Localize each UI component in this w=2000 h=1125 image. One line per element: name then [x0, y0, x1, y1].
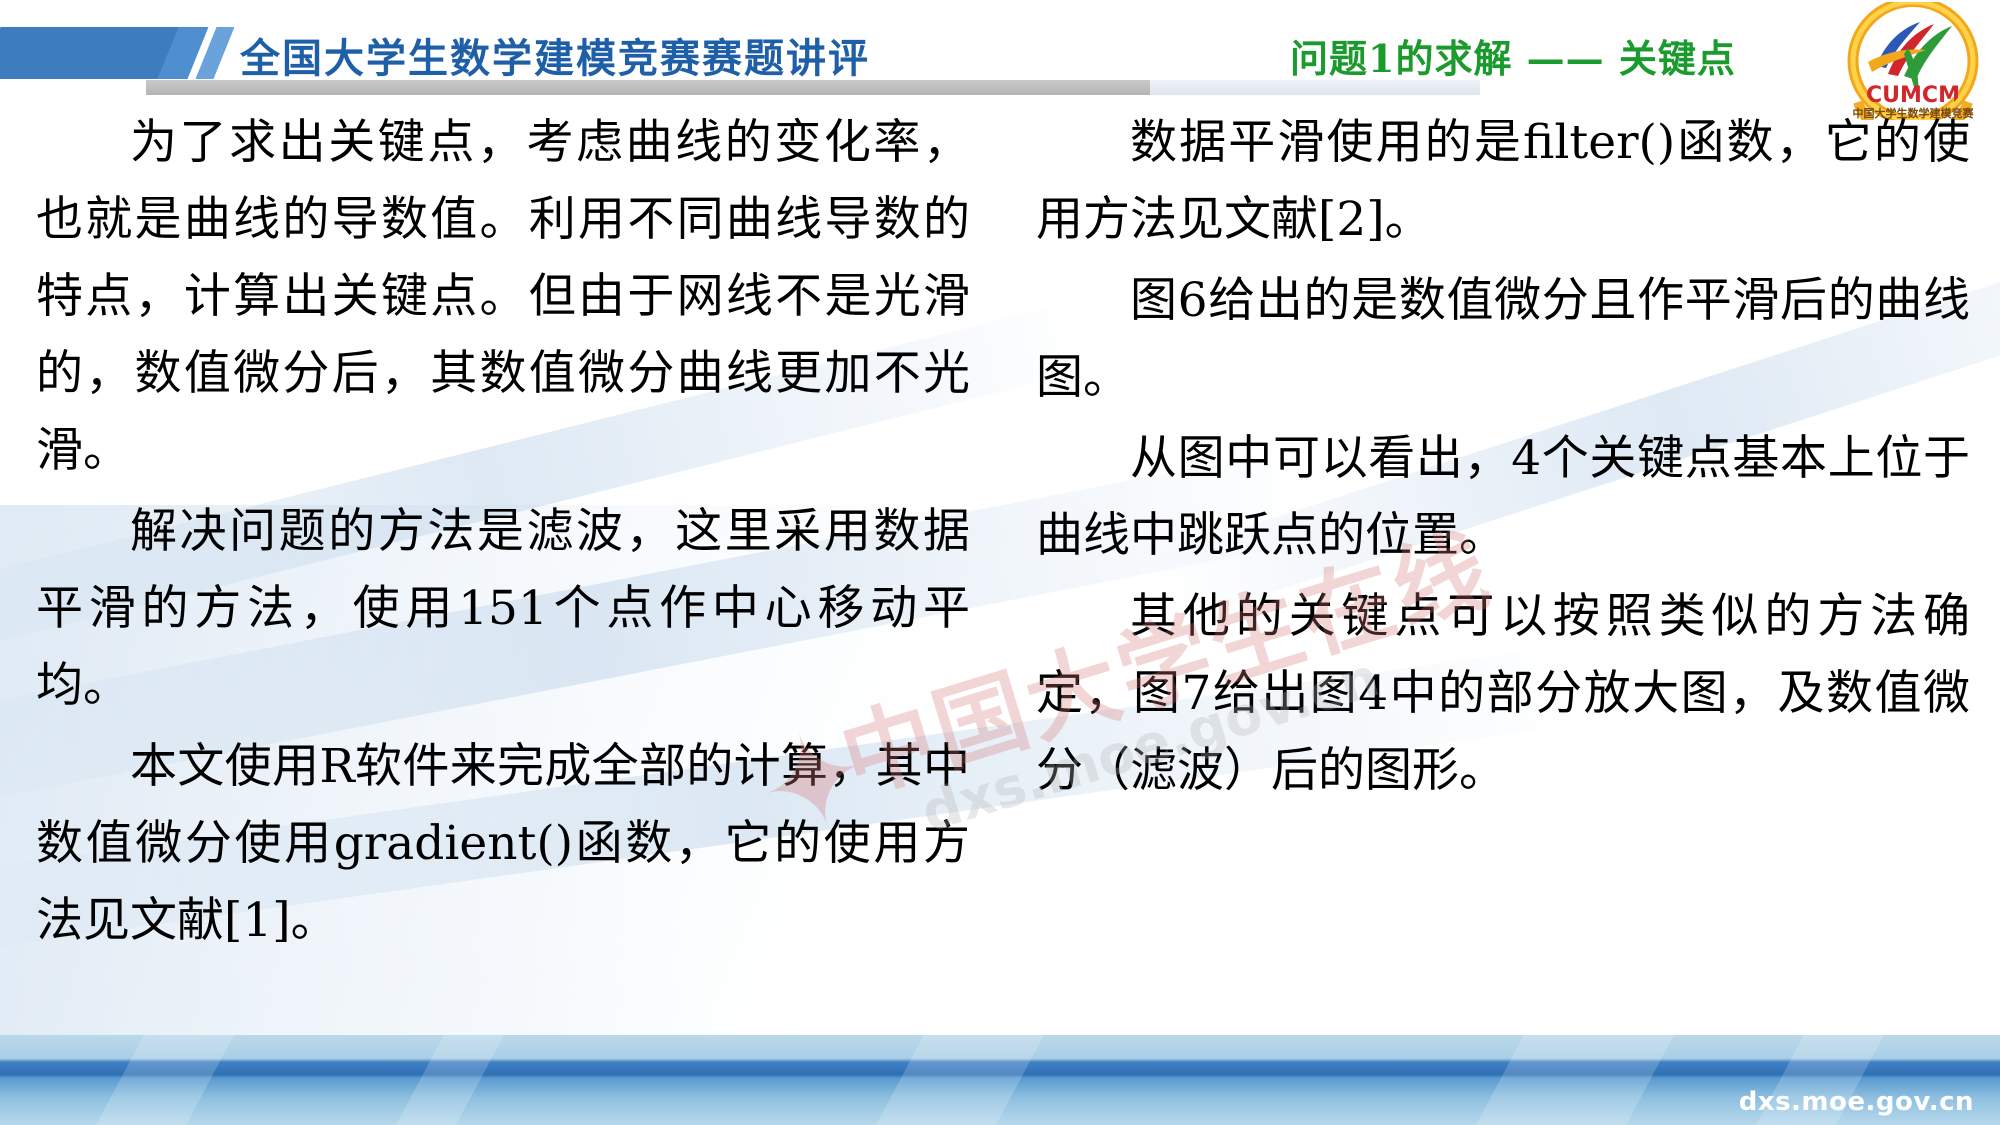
footer-site-url: dxs.moe.gov.cn — [1739, 1087, 1974, 1117]
paragraph: 解决问题的方法是滤波，这里采用数据平滑的方法，使用151个点作中心移动平均。 — [36, 493, 970, 724]
footer-streak-3 — [865, 1035, 1054, 1125]
paragraph: 从图中可以看出，4个关键点基本上位于曲线中跳跃点的位置。 — [1036, 420, 1970, 574]
footer-streak-2 — [385, 1035, 514, 1125]
slide-footer: dxs.moe.gov.cn — [0, 1035, 2000, 1125]
slide-body: 为了求出关键点，考虑曲线的变化率，也就是曲线的导数值。利用不同曲线导数的特点，计… — [0, 104, 2000, 1034]
slide: 全国大学生数学建模竞赛赛题讲评 问题1的求解 —— 关键点 — [0, 0, 2000, 1125]
slide-section-title: 问题1的求解 —— 关键点 — [1290, 28, 1736, 83]
paragraph: 图6给出的是数值微分且作平滑后的曲线图。 — [1036, 262, 1970, 416]
right-text-column: 数据平滑使用的是filter()函数，它的使用方法见文献[2]。 图6给出的是数… — [1000, 104, 2000, 1034]
footer-streak-4 — [1465, 1035, 1684, 1125]
header-blue-bar — [0, 27, 181, 79]
paragraph: 数据平滑使用的是filter()函数，它的使用方法见文献[2]。 — [1036, 104, 1970, 258]
presentation-title: 全国大学生数学建模竞赛赛题讲评 — [240, 26, 870, 84]
cumcm-logo: CUMCM 中国大学生数学建模竞赛 — [1838, 2, 1988, 120]
footer-streak-1 — [85, 1035, 244, 1125]
slide-header: 全国大学生数学建模竞赛赛题讲评 问题1的求解 —— 关键点 — [0, 0, 2000, 104]
paragraph: 为了求出关键点，考虑曲线的变化率，也就是曲线的导数值。利用不同曲线导数的特点，计… — [36, 104, 970, 489]
paragraph: 其他的关键点可以按照类似的方法确定，图7给出图4中的部分放大图，及数值微分（滤波… — [1036, 578, 1970, 809]
paragraph: 本文使用R软件来完成全部的计算，其中数值微分使用gradient()函数，它的使… — [36, 728, 970, 959]
left-text-column: 为了求出关键点，考虑曲线的变化率，也就是曲线的导数值。利用不同曲线导数的特点，计… — [0, 104, 1000, 1034]
